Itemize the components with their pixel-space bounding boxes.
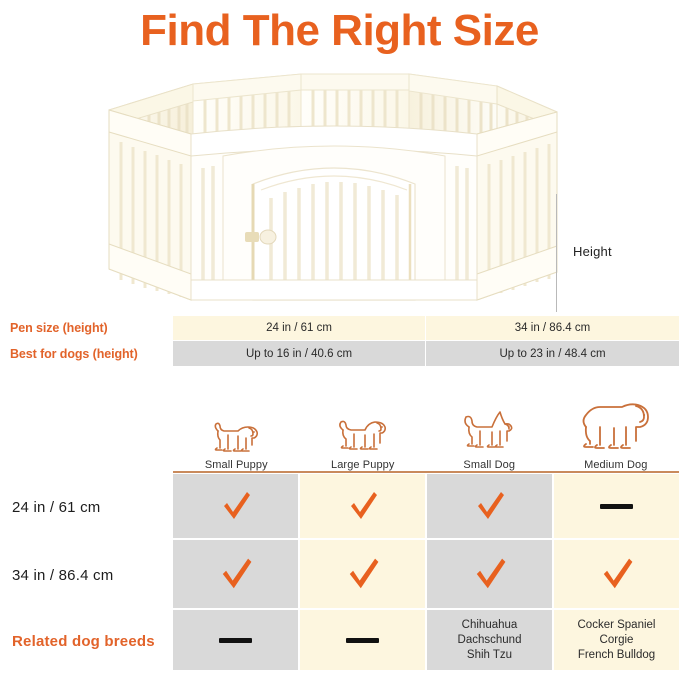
spec-row-label-best-for-dogs: Best for dogs (height) (0, 341, 172, 366)
check-icon (341, 552, 385, 596)
table-row: Pen size (height) 24 in / 61 cm 34 in / … (0, 316, 679, 340)
dog-column-small-puppy: Small Puppy (173, 396, 300, 471)
spec-cell-up-to-23in: Up to 23 in / 48.4 cm (425, 341, 679, 366)
dog-label-small-dog: Small Dog (463, 459, 515, 471)
cell-34in-large-puppy (300, 540, 427, 610)
breed-item: Shih Tzu (458, 648, 522, 663)
table-row: Related dog breeds Chihuahua Dachschund … (0, 610, 679, 672)
small-puppy-icon (208, 417, 264, 457)
dog-label-medium-dog: Medium Dog (584, 459, 647, 471)
breed-item: Cocker Spaniel (578, 618, 656, 633)
height-dimension-label: Height (573, 244, 612, 259)
gate-panel (191, 126, 477, 300)
dog-label-small-puppy: Small Puppy (205, 459, 268, 471)
check-icon (214, 552, 258, 596)
spec-row-label-pen-size: Pen size (height) (0, 316, 172, 340)
breed-list-small-dog: Chihuahua Dachschund Shih Tzu (458, 618, 522, 663)
cell-breeds-small-dog: Chihuahua Dachschund Shih Tzu (427, 610, 554, 672)
cell-breeds-medium-dog: Cocker Spaniel Corgie French Bulldog (554, 610, 679, 672)
grid-row-label-related-breeds: Related dog breeds (0, 610, 173, 672)
spec-cell-24in: 24 in / 61 cm (172, 316, 425, 340)
dog-label-large-puppy: Large Puppy (331, 459, 394, 471)
spec-cell-34in: 34 in / 86.4 cm (425, 316, 679, 340)
small-dog-icon (459, 407, 519, 457)
cell-34in-small-puppy (173, 540, 300, 610)
page-title: Find The Right Size (0, 2, 679, 60)
cell-24in-small-dog (427, 474, 554, 540)
cell-34in-small-dog (427, 540, 554, 610)
dog-column-small-dog: Small Dog (426, 396, 553, 471)
dash-icon (600, 504, 633, 509)
check-icon (343, 486, 383, 526)
check-icon (468, 552, 512, 596)
grid-row-label-24in: 24 in / 61 cm (0, 474, 173, 540)
dash-icon (346, 638, 379, 643)
medium-dog-icon (578, 399, 654, 457)
spec-table: Pen size (height) 24 in / 61 cm 34 in / … (0, 316, 679, 366)
cell-34in-medium-dog (554, 540, 679, 610)
dog-size-header: Small Puppy Large Puppy (173, 396, 679, 471)
height-dimension-line (556, 194, 557, 312)
table-row: 34 in / 86.4 cm (0, 540, 679, 610)
breed-item: Dachschund (458, 633, 522, 648)
check-icon (595, 552, 639, 596)
table-row: 24 in / 61 cm (0, 474, 679, 540)
dog-column-large-puppy: Large Puppy (300, 396, 427, 471)
cell-24in-medium-dog (554, 474, 679, 540)
breed-item: French Bulldog (578, 648, 656, 663)
dash-icon (219, 638, 252, 643)
cell-24in-large-puppy (300, 474, 427, 540)
table-row: Best for dogs (height) Up to 16 in / 40.… (0, 341, 679, 366)
hero-product-image: Height (0, 72, 679, 308)
dog-column-medium-dog: Medium Dog (553, 396, 679, 471)
spec-cell-up-to-16in: Up to 16 in / 40.6 cm (172, 341, 425, 366)
breed-item: Corgie (578, 633, 656, 648)
cell-24in-small-puppy (173, 474, 300, 540)
grid-row-label-34in: 34 in / 86.4 cm (0, 540, 173, 610)
infographic-page: Find The Right Size (0, 0, 679, 678)
breed-list-medium-dog: Cocker Spaniel Corgie French Bulldog (578, 618, 656, 663)
cell-breeds-large-puppy (300, 610, 427, 672)
header-divider-rule (173, 471, 679, 473)
comparison-grid: 24 in / 61 cm 34 in / 86.4 (0, 474, 679, 672)
check-icon (470, 486, 510, 526)
check-icon (216, 486, 256, 526)
pet-playpen-illustration (105, 72, 565, 308)
large-puppy-icon (334, 413, 392, 457)
breed-item: Chihuahua (458, 618, 522, 633)
cell-breeds-small-puppy (173, 610, 300, 672)
